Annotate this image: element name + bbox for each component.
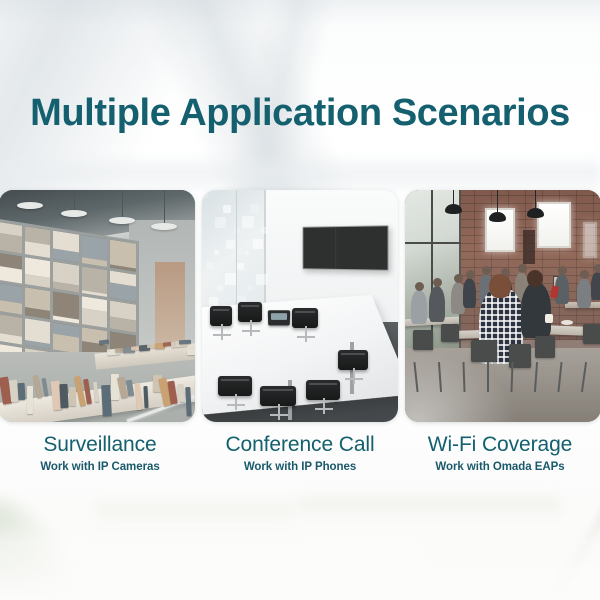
lamp-cord	[497, 190, 498, 212]
caption-subtitle: Work with IP Phones	[200, 461, 400, 473]
lamp-cord	[453, 190, 454, 204]
pendant-lamp	[17, 202, 43, 209]
caption-title: Conference Call	[200, 432, 400, 458]
caption-subtitle: Work with Omada EAPs	[400, 461, 600, 473]
lamp-cord	[535, 190, 536, 208]
scenario-card-list	[0, 190, 600, 422]
frosted-glass-dot	[242, 216, 254, 228]
shelf-cell	[110, 270, 136, 302]
frosted-glass-dot	[248, 286, 253, 291]
frosted-glass-dot	[234, 228, 240, 234]
cafe-person	[463, 278, 476, 308]
display-book	[60, 384, 69, 408]
display-book	[27, 386, 33, 414]
page-title: Multiple Application Scenarios	[0, 93, 600, 135]
pendant-lamp	[151, 223, 177, 230]
scenario-card-surveillance[interactable]	[0, 190, 195, 422]
cafe-person-head	[580, 270, 589, 279]
pendant-lamp	[489, 212, 506, 222]
frosted-glass-dot	[204, 194, 208, 198]
shelf-cell	[25, 257, 51, 289]
cafe-chair	[535, 336, 555, 358]
conference-chair	[338, 350, 368, 370]
cafe-person	[577, 278, 591, 308]
brick-niche	[523, 230, 535, 264]
ip-conference-phone	[268, 310, 290, 325]
wall-tv	[302, 225, 388, 271]
cafe-window	[583, 222, 597, 258]
frosted-glass-dot	[256, 274, 267, 285]
scenario-caption-list: Surveillance Work with IP Cameras Confer…	[0, 432, 600, 473]
shelf-cell	[25, 226, 51, 258]
frosted-glass-dot	[209, 297, 218, 306]
caption-surveillance: Surveillance Work with IP Cameras	[0, 432, 200, 473]
cafe-chair	[441, 324, 459, 342]
frosted-glass-dot	[261, 227, 268, 234]
conference-chair	[218, 376, 252, 396]
display-book	[18, 383, 26, 400]
cafe-person-head	[594, 264, 600, 273]
conference-chair	[260, 386, 296, 406]
shelf-cell	[25, 287, 51, 319]
cafe-chair	[413, 330, 433, 350]
cafe-chair	[471, 340, 497, 362]
frosted-glass-dot	[225, 273, 237, 285]
pendant-lamp	[445, 204, 462, 214]
shelf-cell	[0, 252, 22, 284]
display-book	[69, 387, 76, 406]
window-mullion	[405, 242, 461, 244]
frosted-glass-dot	[237, 263, 244, 270]
shelf-cell	[0, 313, 22, 345]
cafe-person-head	[415, 282, 424, 291]
conference-chair	[292, 308, 318, 328]
shelf-cell	[82, 296, 108, 328]
shelf-cell	[110, 240, 136, 272]
pendant-cord	[74, 190, 75, 210]
pendant-lamp	[109, 217, 135, 224]
pendant-lamp	[527, 208, 544, 218]
cafe-person-head	[558, 266, 567, 275]
conference-chair	[238, 302, 262, 322]
shelf-cell	[82, 266, 108, 298]
cafe-person-head	[489, 274, 511, 298]
cafe-person-head	[454, 274, 463, 283]
cafe-person	[429, 286, 445, 322]
shelf-cell	[53, 261, 79, 293]
cafe-person	[591, 272, 600, 300]
conference-call-photo	[202, 190, 398, 422]
cafe-window	[537, 202, 571, 248]
display-book	[187, 349, 195, 355]
frosted-glass-dot	[253, 239, 263, 249]
pendant-cord	[164, 190, 165, 223]
shelf-cell	[53, 231, 79, 263]
shelf-cell	[25, 318, 51, 350]
cafe-person-head	[433, 278, 442, 287]
cafe-plate	[561, 320, 573, 325]
scenario-card-wifi-coverage[interactable]	[405, 190, 600, 422]
shelf-cell	[53, 292, 79, 324]
frosted-glass-dot	[223, 205, 231, 213]
frosted-glass-dot	[245, 251, 249, 255]
scenario-card-conference-call[interactable]	[202, 190, 398, 422]
caption-title: Wi-Fi Coverage	[400, 432, 600, 458]
caption-subtitle: Work with IP Cameras	[0, 461, 200, 473]
chair-leg	[487, 362, 489, 392]
caption-title: Surveillance	[0, 432, 200, 458]
surveillance-photo	[0, 190, 195, 422]
conference-chair	[210, 306, 232, 326]
frosted-glass-dot	[250, 204, 259, 213]
cafe-person	[411, 290, 427, 324]
caption-conference-call: Conference Call Work with IP Phones	[200, 432, 400, 473]
cafe-person-head	[482, 266, 491, 275]
cafe-person-head	[518, 264, 527, 273]
pendant-cord	[30, 190, 31, 202]
cafe-mug	[545, 314, 553, 323]
cafe-person	[521, 282, 551, 338]
frosted-glass-dot	[206, 262, 214, 270]
shelf-cell	[0, 282, 22, 314]
frosted-glass-dot	[215, 217, 226, 228]
frosted-glass-dot	[226, 240, 235, 249]
cafe-chair	[583, 324, 600, 344]
shelf-cell	[53, 322, 79, 354]
display-book	[179, 340, 191, 345]
frosted-glass-dot	[217, 285, 223, 291]
caption-wifi-coverage: Wi-Fi Coverage Work with Omada EAPs	[400, 432, 600, 473]
pendant-lamp	[61, 210, 87, 217]
cafe-person-head	[466, 270, 475, 279]
shelf-cell	[110, 301, 136, 333]
shelf-cell	[0, 221, 22, 253]
cafe-person-head	[527, 270, 543, 287]
conference-chair	[306, 380, 340, 400]
frosted-glass-dot	[214, 250, 219, 255]
wifi-coverage-photo	[405, 190, 600, 422]
window-mullion	[431, 190, 433, 350]
pendant-cord	[122, 190, 123, 217]
shelf-cell	[82, 235, 108, 267]
